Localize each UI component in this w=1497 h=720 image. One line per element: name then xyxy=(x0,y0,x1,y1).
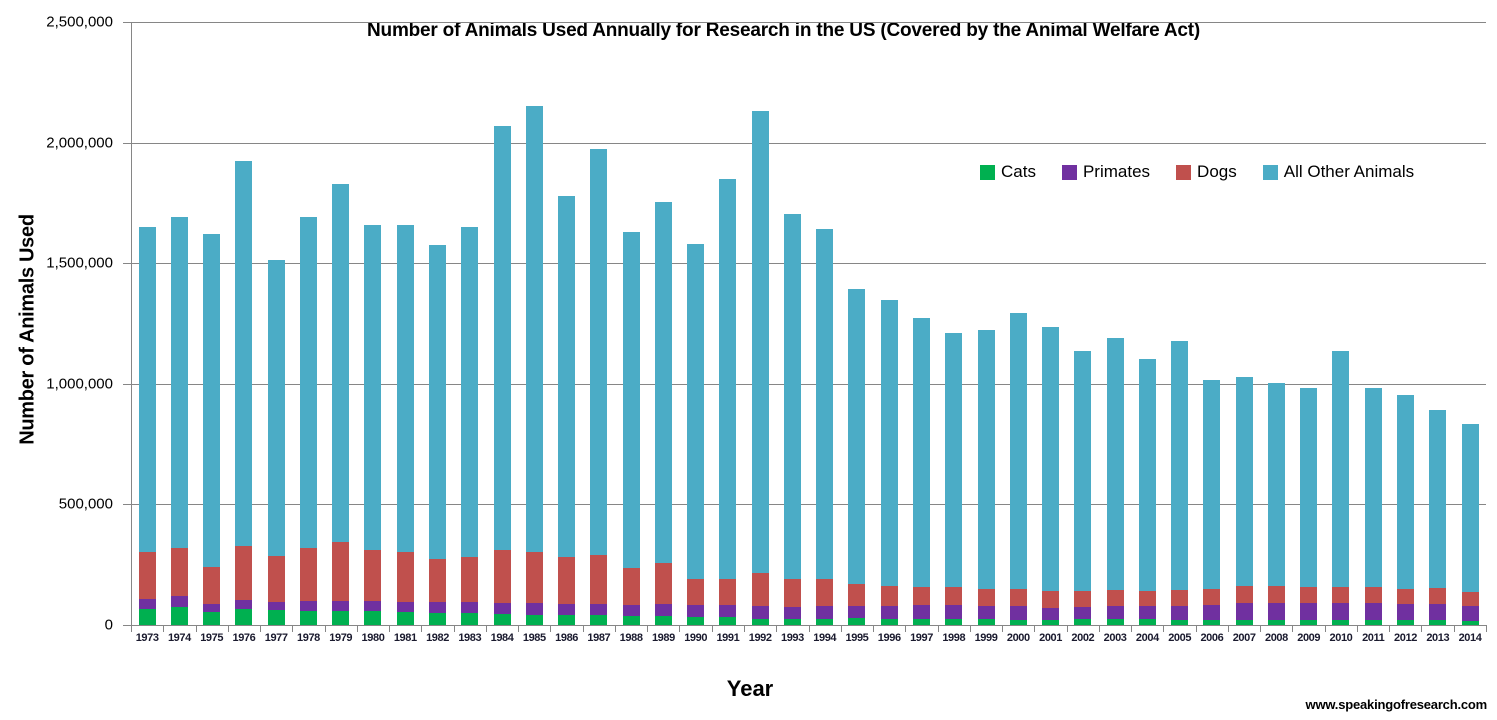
bar-segment-dogs xyxy=(848,584,865,605)
x-axis-tick-mark xyxy=(1454,625,1455,632)
bar-slot xyxy=(776,22,808,625)
x-axis-tick-mark xyxy=(1357,625,1358,632)
bar-segment-all-other-animals xyxy=(978,330,995,588)
x-axis-tick-mark xyxy=(1325,625,1326,632)
bar-segment-primates xyxy=(1397,604,1414,620)
x-axis-tick-label: 1999 xyxy=(970,632,1002,656)
bar-slot xyxy=(260,22,292,625)
bar-segment-primates xyxy=(139,599,156,608)
bar-segment-dogs xyxy=(590,555,607,603)
legend-label: Cats xyxy=(1001,162,1036,182)
x-axis-tick-mark xyxy=(970,625,971,632)
x-axis-tick-label: 1983 xyxy=(454,632,486,656)
legend-item-all-other-animals[interactable]: All Other Animals xyxy=(1263,162,1414,182)
x-axis-tick-mark xyxy=(1131,625,1132,632)
stacked-bar[interactable] xyxy=(1107,338,1124,625)
x-axis-tick-mark xyxy=(196,625,197,632)
stacked-bar[interactable] xyxy=(913,318,930,625)
x-axis-tick-label: 1987 xyxy=(583,632,615,656)
stacked-bar[interactable] xyxy=(171,217,188,625)
stacked-bar[interactable] xyxy=(494,126,511,625)
bar-segment-all-other-animals xyxy=(719,179,736,579)
stacked-bar[interactable] xyxy=(1268,383,1285,625)
bar-segment-dogs xyxy=(1397,589,1414,605)
bar-segment-dogs xyxy=(364,550,381,601)
bar-slot xyxy=(325,22,357,625)
bar-slot xyxy=(1131,22,1163,625)
x-axis-tick-label: 2010 xyxy=(1325,632,1357,656)
bar-segment-all-other-animals xyxy=(1074,351,1091,591)
stacked-bar[interactable] xyxy=(300,217,317,625)
stacked-bar[interactable] xyxy=(1300,388,1317,625)
x-axis-tick-mark xyxy=(292,625,293,632)
x-axis-tick-mark xyxy=(776,625,777,632)
x-axis-tick-label: 1991 xyxy=(712,632,744,656)
x-axis-tick-label: 1990 xyxy=(680,632,712,656)
watermark-source-url: www.speakingofresearch.com xyxy=(1306,697,1487,712)
bar-segment-all-other-animals xyxy=(1203,380,1220,588)
bar-segment-primates xyxy=(623,605,640,616)
x-axis-tick-label: 1996 xyxy=(873,632,905,656)
bar-segment-dogs xyxy=(235,546,252,601)
x-axis-tick-mark xyxy=(1292,625,1293,632)
y-axis-tick-label: 2,500,000 xyxy=(46,14,113,31)
bar-segment-primates xyxy=(171,596,188,607)
bar-segment-primates xyxy=(881,606,898,619)
bar-segment-primates xyxy=(300,601,317,611)
bar-segment-cats xyxy=(687,617,704,625)
bar-segment-dogs xyxy=(494,550,511,603)
bar-segment-all-other-animals xyxy=(235,161,252,546)
bar-segment-cats xyxy=(623,616,640,625)
bar-segment-primates xyxy=(1429,604,1446,620)
bar-slot xyxy=(1067,22,1099,625)
x-axis-tick-mark xyxy=(615,625,616,632)
bar-slot xyxy=(550,22,582,625)
stacked-bar[interactable] xyxy=(978,330,995,625)
bar-segment-all-other-animals xyxy=(558,196,575,557)
bar-slot xyxy=(905,22,937,625)
bar-segment-cats xyxy=(848,618,865,625)
bar-segment-all-other-animals xyxy=(1171,341,1188,590)
x-axis-tick-label: 1985 xyxy=(518,632,550,656)
bar-slot xyxy=(1293,22,1325,625)
bar-segment-all-other-animals xyxy=(364,225,381,550)
stacked-bar[interactable] xyxy=(235,161,252,625)
legend-swatch-icon xyxy=(980,165,995,180)
bar-slot xyxy=(1422,22,1454,625)
bar-slot xyxy=(938,22,970,625)
x-axis-tick-label: 1974 xyxy=(163,632,195,656)
stacked-bar[interactable] xyxy=(1236,377,1253,625)
bar-segment-primates xyxy=(364,601,381,611)
stacked-bar[interactable] xyxy=(1074,351,1091,625)
bar-segment-dogs xyxy=(1332,587,1349,603)
bar-slot xyxy=(389,22,421,625)
bar-segment-all-other-animals xyxy=(1365,388,1382,587)
x-axis-tick-mark xyxy=(131,625,132,632)
bar-slot xyxy=(873,22,905,625)
x-axis-tick-label: 1977 xyxy=(260,632,292,656)
bar-slot xyxy=(680,22,712,625)
bar-segment-cats xyxy=(719,617,736,625)
bar-slot xyxy=(518,22,550,625)
x-axis-tick-label: 1989 xyxy=(647,632,679,656)
legend-item-primates[interactable]: Primates xyxy=(1062,162,1150,182)
bar-segment-dogs xyxy=(752,573,769,606)
bar-segment-dogs xyxy=(945,587,962,605)
stacked-bar[interactable] xyxy=(1203,380,1220,625)
bar-segment-primates xyxy=(1236,603,1253,620)
stacked-bar[interactable] xyxy=(719,179,736,625)
x-axis-tick-mark xyxy=(518,625,519,632)
y-axis-tick-mark xyxy=(123,384,131,385)
bar-slot xyxy=(1228,22,1260,625)
x-axis-tick-label: 1979 xyxy=(325,632,357,656)
bar-segment-all-other-animals xyxy=(139,227,156,552)
stacked-bar[interactable] xyxy=(687,244,704,625)
x-axis-tick-label: 2000 xyxy=(1002,632,1034,656)
x-axis-tick-mark xyxy=(809,625,810,632)
bar-segment-primates xyxy=(655,604,672,616)
bar-segment-all-other-animals xyxy=(1010,313,1027,589)
bar-segment-primates xyxy=(816,606,833,619)
legend-item-cats[interactable]: Cats xyxy=(980,162,1036,182)
x-axis-tick-label: 2014 xyxy=(1454,632,1486,656)
bar-segment-dogs xyxy=(1365,587,1382,603)
bar-slot xyxy=(163,22,195,625)
bar-segment-primates xyxy=(752,606,769,619)
x-axis-tick-mark xyxy=(905,625,906,632)
bar-segment-all-other-animals xyxy=(300,217,317,548)
stacked-bar[interactable] xyxy=(784,214,801,625)
x-axis-tick-label: 2009 xyxy=(1293,632,1325,656)
bar-slot xyxy=(1325,22,1357,625)
bar-segment-primates xyxy=(1042,608,1059,620)
bar-segment-primates xyxy=(1203,605,1220,620)
bar-segment-primates xyxy=(1171,606,1188,620)
bar-segment-dogs xyxy=(1300,587,1317,604)
stacked-bar[interactable] xyxy=(1139,359,1156,625)
x-axis-tick-label: 1998 xyxy=(938,632,970,656)
x-axis-tick-label: 1988 xyxy=(615,632,647,656)
bar-segment-all-other-animals xyxy=(1462,424,1479,592)
bar-segment-all-other-animals xyxy=(1300,388,1317,587)
bar-segment-dogs xyxy=(687,579,704,605)
x-axis-tick-mark xyxy=(647,625,648,632)
stacked-bar[interactable] xyxy=(526,106,543,625)
bar-segment-all-other-animals xyxy=(397,225,414,553)
bar-segment-cats xyxy=(332,611,349,625)
bar-slot xyxy=(421,22,453,625)
bar-segment-primates xyxy=(1139,606,1156,619)
bar-segment-primates xyxy=(687,605,704,617)
legend-swatch-icon xyxy=(1062,165,1077,180)
stacked-bar[interactable] xyxy=(139,227,156,625)
legend-label: Primates xyxy=(1083,162,1150,182)
bar-segment-dogs xyxy=(300,548,317,601)
bar-slot xyxy=(1099,22,1131,625)
bar-segment-all-other-animals xyxy=(1042,327,1059,591)
bar-segment-dogs xyxy=(623,568,640,605)
bar-segment-primates xyxy=(558,604,575,615)
bar-segment-primates xyxy=(1074,607,1091,620)
bar-segment-all-other-animals xyxy=(1397,395,1414,589)
legend-label: Dogs xyxy=(1197,162,1237,182)
bar-segment-primates xyxy=(526,603,543,615)
bar-segment-cats xyxy=(235,609,252,625)
bar-segment-dogs xyxy=(1171,590,1188,606)
bar-slot xyxy=(615,22,647,625)
x-axis-tick-label: 2006 xyxy=(1196,632,1228,656)
stacked-bar[interactable] xyxy=(461,227,478,625)
stacked-bar[interactable] xyxy=(364,225,381,625)
bar-segment-all-other-animals xyxy=(816,229,833,579)
x-axis-tick-label: 2013 xyxy=(1422,632,1454,656)
bar-slot xyxy=(1164,22,1196,625)
bar-slot xyxy=(583,22,615,625)
stacked-bar[interactable] xyxy=(1429,410,1446,625)
bar-segment-dogs xyxy=(1429,588,1446,604)
bar-series-container xyxy=(131,22,1486,625)
bar-segment-all-other-animals xyxy=(752,111,769,573)
bar-segment-dogs xyxy=(397,552,414,601)
bar-segment-primates xyxy=(1107,606,1124,619)
bar-segment-dogs xyxy=(1203,589,1220,605)
bar-segment-cats xyxy=(655,616,672,625)
bar-segment-all-other-animals xyxy=(526,106,543,552)
stacked-bar[interactable] xyxy=(1010,313,1027,625)
stacked-bar[interactable] xyxy=(1365,388,1382,625)
x-axis-tick-label: 1986 xyxy=(550,632,582,656)
x-axis-tick-label: 1993 xyxy=(776,632,808,656)
bar-slot xyxy=(1034,22,1066,625)
bar-segment-primates xyxy=(332,601,349,610)
bar-segment-cats xyxy=(268,610,285,625)
bar-slot xyxy=(712,22,744,625)
stacked-bar[interactable] xyxy=(1332,351,1349,625)
y-axis-tick-mark xyxy=(123,143,131,144)
bar-segment-all-other-animals xyxy=(494,126,511,550)
x-axis-tick-label: 2008 xyxy=(1260,632,1292,656)
bar-segment-primates xyxy=(1332,603,1349,620)
bar-segment-cats xyxy=(461,613,478,625)
x-axis-tick-mark xyxy=(744,625,745,632)
bar-segment-dogs xyxy=(268,556,285,602)
stacked-bar[interactable] xyxy=(558,196,575,625)
x-axis-tick-mark xyxy=(1389,625,1390,632)
bar-segment-cats xyxy=(494,614,511,625)
x-axis-tick-mark xyxy=(1067,625,1068,632)
x-axis-tick-label: 2001 xyxy=(1034,632,1066,656)
x-axis-tick-label: 2003 xyxy=(1099,632,1131,656)
bar-segment-all-other-animals xyxy=(429,245,446,559)
bar-segment-cats xyxy=(429,613,446,625)
stacked-bar[interactable] xyxy=(848,289,865,625)
x-axis-tick-labels: 1973197419751976197719781979198019811982… xyxy=(131,632,1486,656)
legend-item-dogs[interactable]: Dogs xyxy=(1176,162,1237,182)
x-axis-tick-mark xyxy=(1099,625,1100,632)
bar-segment-cats xyxy=(526,615,543,625)
bar-segment-dogs xyxy=(1139,591,1156,607)
bar-slot xyxy=(228,22,260,625)
stacked-bar[interactable] xyxy=(1042,327,1059,625)
x-axis-tick-label: 1984 xyxy=(486,632,518,656)
x-axis-tick-label: 2002 xyxy=(1067,632,1099,656)
bar-segment-cats xyxy=(558,615,575,625)
x-axis-tick-mark xyxy=(228,625,229,632)
x-axis-tick-mark xyxy=(163,625,164,632)
bar-segment-cats xyxy=(171,607,188,625)
y-axis-tick-mark xyxy=(123,22,131,23)
stacked-bar[interactable] xyxy=(268,260,285,625)
stacked-bar[interactable] xyxy=(881,300,898,625)
bar-slot xyxy=(809,22,841,625)
x-axis-tick-label: 2005 xyxy=(1164,632,1196,656)
x-axis-tick-mark xyxy=(550,625,551,632)
bar-segment-primates xyxy=(978,606,995,620)
y-axis-tick-labels: 0500,0001,000,0001,500,0002,000,0002,500… xyxy=(0,0,131,720)
bar-segment-cats xyxy=(590,615,607,625)
bar-segment-all-other-animals xyxy=(590,149,607,555)
bar-segment-cats xyxy=(139,609,156,625)
bar-segment-all-other-animals xyxy=(1236,377,1253,586)
y-axis-tick-mark xyxy=(123,625,131,626)
bar-slot xyxy=(357,22,389,625)
bar-segment-dogs xyxy=(1010,589,1027,606)
bar-segment-all-other-animals xyxy=(203,234,220,566)
x-axis-tick-label: 1997 xyxy=(905,632,937,656)
y-axis-tick-label: 500,000 xyxy=(59,496,113,513)
bar-slot xyxy=(1002,22,1034,625)
x-axis-tick-mark xyxy=(389,625,390,632)
x-axis-tick-mark xyxy=(260,625,261,632)
stacked-bar[interactable] xyxy=(1397,395,1414,625)
x-axis-tick-mark xyxy=(1034,625,1035,632)
bar-segment-dogs xyxy=(1462,592,1479,606)
bar-segment-primates xyxy=(1010,606,1027,620)
chart-legend: CatsPrimatesDogsAll Other Animals xyxy=(980,162,1414,182)
x-axis-tick-label: 1976 xyxy=(228,632,260,656)
bar-segment-dogs xyxy=(1074,591,1091,607)
bar-segment-primates xyxy=(397,602,414,613)
bar-segment-primates xyxy=(913,605,930,619)
bar-segment-dogs xyxy=(526,552,543,603)
x-axis-tick-mark xyxy=(454,625,455,632)
x-axis-tick-mark xyxy=(679,625,680,632)
x-axis-tick-label: 1992 xyxy=(744,632,776,656)
legend-label: All Other Animals xyxy=(1284,162,1414,182)
stacked-bar[interactable] xyxy=(816,229,833,625)
legend-swatch-icon xyxy=(1263,165,1278,180)
bar-segment-all-other-animals xyxy=(881,300,898,586)
bar-segment-dogs xyxy=(203,567,220,604)
bar-segment-all-other-animals xyxy=(171,217,188,548)
bar-segment-dogs xyxy=(558,557,575,605)
stacked-bar[interactable] xyxy=(397,225,414,625)
y-axis-tick-label: 1,500,000 xyxy=(46,255,113,272)
stacked-bar[interactable] xyxy=(1462,424,1479,625)
bar-segment-primates xyxy=(590,604,607,616)
bar-slot xyxy=(196,22,228,625)
stacked-bar[interactable] xyxy=(429,245,446,625)
x-axis-tick-mark xyxy=(1163,625,1164,632)
stacked-bar[interactable] xyxy=(752,111,769,625)
x-axis-tick-label: 2004 xyxy=(1131,632,1163,656)
x-axis-tick-mark xyxy=(583,625,584,632)
bar-slot xyxy=(841,22,873,625)
x-axis-tick-label: 2012 xyxy=(1389,632,1421,656)
x-axis-tick-mark xyxy=(873,625,874,632)
x-axis-tick-label: 1978 xyxy=(292,632,324,656)
bar-segment-primates xyxy=(203,604,220,611)
bar-segment-primates xyxy=(945,605,962,619)
stacked-bar[interactable] xyxy=(590,149,607,625)
bar-segment-all-other-animals xyxy=(1107,338,1124,590)
x-axis-tick-mark xyxy=(357,625,358,632)
stacked-bar[interactable] xyxy=(203,234,220,625)
x-axis-tick-mark xyxy=(1228,625,1229,632)
x-axis-tick-mark xyxy=(1260,625,1261,632)
bar-segment-primates xyxy=(1300,603,1317,620)
legend-swatch-icon xyxy=(1176,165,1191,180)
bar-segment-all-other-animals xyxy=(1332,351,1349,587)
bar-segment-dogs xyxy=(1268,586,1285,603)
stacked-bar[interactable] xyxy=(623,232,640,625)
bar-segment-primates xyxy=(235,600,252,609)
bar-segment-all-other-animals xyxy=(848,289,865,584)
x-axis-tick-mark xyxy=(325,625,326,632)
x-axis-tick-mark xyxy=(712,625,713,632)
bar-segment-dogs xyxy=(1042,591,1059,608)
x-axis-tick-label: 1980 xyxy=(357,632,389,656)
x-axis-tick-label: 1994 xyxy=(809,632,841,656)
bar-segment-dogs xyxy=(655,563,672,604)
bar-segment-primates xyxy=(1365,603,1382,620)
bar-slot xyxy=(131,22,163,625)
x-axis-tick-mark xyxy=(1486,625,1487,632)
bar-segment-all-other-animals xyxy=(655,202,672,563)
bar-segment-primates xyxy=(268,602,285,610)
bar-slot xyxy=(292,22,324,625)
bar-slot xyxy=(486,22,518,625)
stacked-bar[interactable] xyxy=(1171,341,1188,625)
x-axis-tick-mark xyxy=(1196,625,1197,632)
x-axis-tick-label: 1981 xyxy=(389,632,421,656)
bar-segment-primates xyxy=(494,603,511,614)
bar-segment-all-other-animals xyxy=(332,184,349,543)
bar-segment-dogs xyxy=(171,548,188,596)
bar-slot xyxy=(1454,22,1486,625)
bar-segment-dogs xyxy=(429,559,446,602)
bar-segment-dogs xyxy=(881,586,898,606)
bar-slot xyxy=(744,22,776,625)
bar-segment-primates xyxy=(1462,606,1479,621)
x-axis-tick-label: 2011 xyxy=(1357,632,1389,656)
bar-segment-all-other-animals xyxy=(1139,359,1156,590)
stacked-bar[interactable] xyxy=(945,333,962,625)
x-axis-tick-label: 1975 xyxy=(196,632,228,656)
x-axis-tick-mark xyxy=(486,625,487,632)
stacked-bar[interactable] xyxy=(655,202,672,625)
bar-slot xyxy=(1389,22,1421,625)
stacked-bar[interactable] xyxy=(332,184,349,625)
bar-segment-all-other-animals xyxy=(461,227,478,557)
x-axis-tick-mark xyxy=(1421,625,1422,632)
bar-segment-dogs xyxy=(913,587,930,605)
bar-segment-primates xyxy=(719,605,736,616)
bar-slot xyxy=(1357,22,1389,625)
